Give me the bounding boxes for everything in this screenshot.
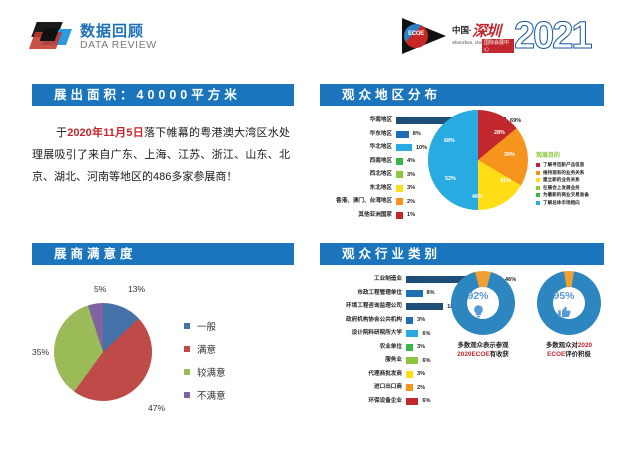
legend-item: 满意 [184,342,226,356]
bar-category-label: 西北地区 [320,168,396,182]
legend-item: 了解寻觅新产品信息 [536,162,606,168]
legend-title: 观展目的 [536,150,606,159]
caption-line2: 评价积极 [565,351,591,358]
bar-value-label: 6% [418,398,430,404]
bar-fill [406,344,413,351]
logo-title-cn: 数据回顾 [80,20,144,41]
legend-item: 了解总体市场趋向 [536,200,606,206]
thumbs-up-icon [532,304,596,321]
data-review-logo-icon [32,22,72,54]
desc-highlight-date: 2020年11月5日 [67,127,144,139]
bar-category-label: 进口出口商 [320,381,406,395]
page-header: 数据回顾 DATA REVIEW ECOE 中国· 深圳 Shenzhen, c… [0,0,624,72]
caption-line1: 多数观众表示参观 [457,342,508,349]
legend-item: 一般 [184,319,226,333]
bar-row: 环保设备企业6% [320,395,604,409]
bar-fill [396,198,403,205]
satisfaction-label-general: 13% [128,284,145,294]
pie-label-4: 52% [445,176,456,182]
legend-label: 一般 [197,319,216,333]
legend-swatch [184,323,190,329]
legend-swatch [536,163,540,167]
exhibition-area-description: 于2020年11月5日落下帷幕的粤港澳大湾区水处理展吸引了来自广东、上海、江苏、… [32,122,294,188]
satisfaction-legend: 一般满意较满意不满意 [184,319,226,411]
event-logo: ECOE 中国· 深圳 Shenzhen, china 国际会展中心 2021 [402,14,608,58]
bar-category-label: 市政工程管理单位 [320,287,406,301]
legend-item: 较满意 [184,365,226,379]
panel-title-visitor-industry: 观众行业类别 [320,243,604,265]
bar-category-label: 设计院科研院所大学 [320,327,406,341]
donut-ring [532,266,605,339]
caption-highlight: 2020ECOE [457,351,489,358]
city-prefix: 中国· [452,24,472,36]
bar-fill [396,131,409,138]
panel-visitor-industry: 观众行业类别 工业制造业46%市政工程管理单位8%环境工程咨询监理公司18%政府… [320,243,604,408]
legend-swatch [536,186,540,190]
bar-value-label: 8% [423,290,435,296]
bar-category-label: 东北地区 [320,182,396,196]
legend-label: 了解总体市场趋向 [543,200,580,206]
bar-category-label: 西南地区 [320,155,396,169]
legend-item: 建立新的业务关系 [536,177,606,183]
legend-swatch [536,171,540,175]
bar-category-label: 其他亚洲国家 [320,209,396,223]
legend-swatch [184,346,190,352]
logo-title-en: DATA REVIEW [80,39,157,51]
satisfaction-pie-chart [54,303,152,401]
event-year: 2021 [514,16,591,56]
legend-label: 不满意 [197,388,226,402]
bar-fill [406,303,443,310]
bar-category-label: 华北地区 [320,141,396,155]
ecoe-badge-icon: ECOE [402,18,448,54]
caption-highlight: 2020 [578,342,592,349]
legend-swatch [536,193,540,197]
city-name-en: Shenzhen, china [452,40,486,45]
bar-category-label: 代理商批发商 [320,368,406,382]
bar-value-label: 3% [413,317,425,323]
legend-swatch [184,369,190,375]
panel-title-exhibition-area: 展出面积：40000平方米 [32,84,294,106]
bar-row: 其他亚洲国家1% [320,209,604,223]
city-name: 深圳 [472,20,500,41]
bar-fill [396,171,403,178]
legend-item: 在展会上发展业务 [536,185,606,191]
bar-fill [406,357,418,364]
bar-category-label: 工业制造业 [320,273,406,287]
legend-label: 建立新的业务关系 [543,177,580,183]
bar-category-label: 农业单位 [320,341,406,355]
bar-category-label: 环境工程咨询监理公司 [320,300,406,314]
bar-value-label: 3% [403,172,415,178]
legend-swatch [184,392,190,398]
donut-percentage: 95% [532,290,596,302]
bar-value-label: 10% [412,145,427,151]
visit-purpose-legend: 观展目的 了解寻觅新产品信息维持现有的业务关系建立新的业务关系在展会上发展业务为… [536,150,606,208]
pie-label-3: 46% [472,194,483,200]
bar-value-label: 1% [403,212,415,218]
legend-label: 为最新的商业交易准备 [543,192,589,198]
bar-category-label: 环保设备企业 [320,395,406,409]
bar-fill [406,317,413,324]
legend-item: 不满意 [184,388,226,402]
bar-fill [396,212,403,219]
legend-item: 维持现有的业务关系 [536,170,606,176]
bar-value-label: 2% [403,199,415,205]
caption-highlight2: ECOE [547,351,565,358]
survey-donut-group: 92%多数观众表示参观2020ECOE有收获 95%多数观众对2020ECOE评… [446,271,606,389]
bar-value-label: 3% [413,371,425,377]
bar-category-label: 华南地区 [320,114,396,128]
bar-value-label: 6% [418,331,430,337]
pie-label-2: 41% [500,178,511,184]
satisfaction-label-satisfied: 47% [148,403,165,413]
bar-value-label: 8% [409,131,421,137]
donut-caption: 多数观众对2020ECOE评价积极 [532,341,606,359]
satisfaction-label-dissatisfied: 5% [94,284,106,294]
satisfaction-label-fairly: 35% [32,347,49,357]
bar-fill [396,158,403,165]
bar-fill [406,330,418,337]
bar-value-label: 4% [403,158,415,164]
panel-title-visitor-region: 观众地区分布 [320,84,604,106]
bar-category-label: 香港、澳门、台湾地区 [320,195,396,209]
bar-fill [406,398,418,405]
legend-label: 维持现有的业务关系 [543,170,584,176]
bar-fill [396,144,412,151]
venue-name: 国际会展中心 [482,39,514,53]
panel-visitor-region: 观众地区分布 华南地区69%华东地区8%华北地区10%西南地区4%西北地区3%东… [320,84,604,222]
legend-swatch [536,178,540,182]
ecoe-badge-label: ECOE [405,31,427,37]
desc-pre: 于 [56,127,67,139]
donut-chart-harvest: 92%多数观众表示参观2020ECOE有收获 [446,271,520,359]
pie-label-1: 39% [504,152,515,158]
donut-chart-positive: 95%多数观众对2020ECOE评价积极 [532,271,606,359]
bar-category-label: 华东地区 [320,128,396,142]
donut-percentage: 92% [446,290,510,302]
panel-exhibitor-satisfaction: 展商满意度 13% 47% 35% 5% 一般满意较满意不满意 [32,243,294,425]
bar-fill [396,185,403,192]
legend-label: 满意 [197,342,216,356]
legend-item: 为最新的商业交易准备 [536,192,606,198]
city-logo: 中国· 深圳 Shenzhen, china 国际会展中心 [452,20,514,52]
donut-ring [444,264,522,342]
panel-exhibition-area: 展出面积：40000平方米 于2020年11月5日落下帷幕的粤港澳大湾区水处理展… [32,84,294,188]
bar-value-label: 3% [403,185,415,191]
legend-label: 在展会上发展业务 [543,185,580,191]
bar-value-label: 2% [413,385,425,391]
bar-fill [406,290,423,297]
bar-category-label: 政府机构协会公共机构 [320,314,406,328]
bar-fill [406,384,413,391]
pie-label-0: 28% [494,130,505,136]
panel-title-exhibitor-satisfaction: 展商满意度 [32,243,294,265]
bar-value-label: 3% [413,344,425,350]
lightbulb-icon [446,304,510,321]
legend-label: 了解寻觅新产品信息 [543,162,584,168]
pie-label-5: 68% [444,138,455,144]
visit-purpose-pie-chart: 28% 39% 41% 46% 52% 68% [428,110,528,210]
caption-line2: 有收获 [490,351,509,358]
legend-swatch [536,201,540,205]
caption-line1: 多数观众对 [546,342,578,349]
bar-category-label: 服务业 [320,354,406,368]
donut-caption: 多数观众表示参观2020ECOE有收获 [446,341,520,359]
legend-label: 较满意 [197,365,226,379]
bar-fill [406,371,413,378]
bar-value-label: 6% [418,358,430,364]
